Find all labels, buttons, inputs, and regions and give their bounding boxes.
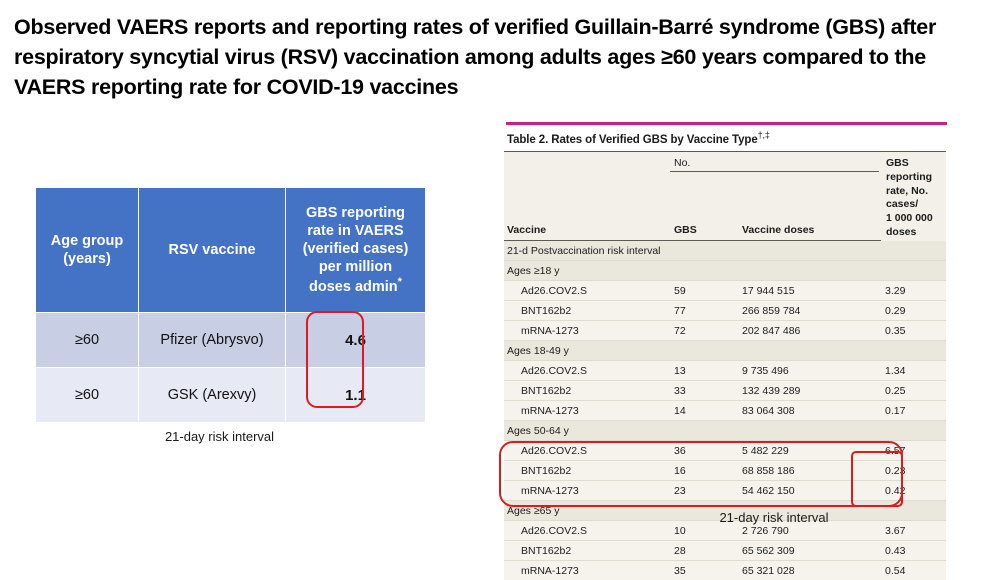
cell-section-label: 21-d Postvaccination risk interval (504, 241, 670, 261)
cell-gbs-count (670, 421, 738, 441)
cell-vaccine: Pfizer (Abrysvo) (139, 313, 286, 368)
right-header-rate-line2: rate, No. cases/ (886, 185, 928, 211)
cell-section-label: Ages 50-64 y (504, 421, 670, 441)
rsv-gbs-rate-table: Age group (years) RSV vaccine GBS report… (35, 187, 404, 423)
jama-table-title: Table 2. Rates of Verified GBS by Vaccin… (504, 125, 946, 151)
cell-gbs-rate: 0.42 (881, 481, 946, 501)
table-row: BNT162b22865 562 3090.43 (504, 541, 946, 561)
cell-vaccine: mRNA-1273 (504, 481, 670, 501)
cell-vaccine-doses: 17 944 515 (738, 281, 881, 301)
right-header-spacer (504, 151, 670, 199)
cell-vaccine: GSK (Arexvy) (139, 368, 286, 423)
right-header-row-bottom: Vaccine GBS Vaccine doses (504, 200, 946, 241)
cell-vaccine-doses: 65 321 028 (738, 561, 881, 580)
cell-vaccine-doses: 54 462 150 (738, 481, 881, 501)
table-section-row: Ages ≥18 y (504, 261, 946, 281)
right-header-row-top: No. GBS reporting rate, No. cases/ 1 000… (504, 151, 946, 199)
left-header-gbs-rate: GBS reporting rate in VAERS (verified ca… (286, 188, 426, 313)
cell-vaccine-doses: 132 439 289 (738, 381, 881, 401)
page-title: Observed VAERS reports and reporting rat… (14, 12, 980, 102)
cell-gbs-rate: 0.54 (881, 561, 946, 580)
table-row: mRNA-127372202 847 4860.35 (504, 321, 946, 341)
left-table-body: ≥60 Pfizer (Abrysvo) 4.6 ≥60 GSK (Arexvy… (36, 313, 426, 423)
left-table: Age group (years) RSV vaccine GBS report… (35, 187, 426, 423)
cell-gbs-count: 33 (670, 381, 738, 401)
cell-vaccine: mRNA-1273 (504, 321, 670, 341)
left-header-age-group-line1: Age group (51, 233, 124, 249)
cell-gbs-rate: 3.29 (881, 281, 946, 301)
cell-gbs-rate: 6.57 (881, 441, 946, 461)
cell-vaccine: mRNA-1273 (504, 561, 670, 580)
left-header-rate-line1: GBS reporting (306, 205, 405, 221)
dagger-footnote-marker: †,‡ (758, 130, 770, 140)
cell-vaccine: BNT162b2 (504, 301, 670, 321)
left-header-age-group: Age group (years) (36, 188, 139, 313)
cell-gbs-rate (881, 241, 946, 261)
table-row: ≥60 Pfizer (Abrysvo) 4.6 (36, 313, 426, 368)
cell-gbs-rate: 0.17 (881, 401, 946, 421)
table-row: BNT162b233132 439 2890.25 (504, 381, 946, 401)
left-header-rate-line2: rate in VAERS (307, 223, 403, 239)
cell-gbs-count: 59 (670, 281, 738, 301)
table-row: Ad26.COV2.S5917 944 5153.29 (504, 281, 946, 301)
cell-vaccine: Ad26.COV2.S (504, 441, 670, 461)
cell-section-label: Ages 18-49 y (504, 341, 670, 361)
cell-gbs-rate: 0.29 (881, 301, 946, 321)
cell-vaccine-doses (738, 261, 881, 281)
cell-gbs-count: 14 (670, 401, 738, 421)
left-header-rate-line4: per million (319, 259, 392, 275)
table-row: mRNA-12732354 462 1500.42 (504, 481, 946, 501)
cell-gbs-rate (881, 261, 946, 281)
cell-gbs-rate: 0.25 (881, 381, 946, 401)
cell-gbs-rate: 4.6 (286, 313, 426, 368)
left-header-rsv-vaccine: RSV vaccine (139, 188, 286, 313)
right-header-rate-line3: 1 000 000 doses (886, 212, 933, 238)
cell-gbs-count: 23 (670, 481, 738, 501)
cell-gbs-count (670, 341, 738, 361)
cell-vaccine-doses (738, 341, 881, 361)
cell-gbs-count: 36 (670, 441, 738, 461)
right-table-head: No. GBS reporting rate, No. cases/ 1 000… (504, 151, 946, 241)
cell-vaccine: BNT162b2 (504, 461, 670, 481)
right-table-caption: 21-day risk interval (604, 510, 944, 525)
cell-gbs-rate (881, 421, 946, 441)
table-section-row: Ages 50-64 y (504, 421, 946, 441)
cell-gbs-count: 72 (670, 321, 738, 341)
cell-vaccine: BNT162b2 (504, 381, 670, 401)
cell-vaccine-doses (738, 421, 881, 441)
asterisk-footnote-marker: * (398, 276, 402, 288)
left-table-head: Age group (years) RSV vaccine GBS report… (36, 188, 426, 313)
cell-gbs-rate: 1.1 (286, 368, 426, 423)
cell-gbs-count: 35 (670, 561, 738, 580)
left-header-rate-line3: (verified cases) (303, 241, 409, 257)
right-header-gbs-rate: GBS reporting rate, No. cases/ 1 000 000… (881, 151, 946, 241)
cell-vaccine-doses: 202 847 486 (738, 321, 881, 341)
left-table-header-row: Age group (years) RSV vaccine GBS report… (36, 188, 426, 313)
cell-vaccine: Ad26.COV2.S (504, 281, 670, 301)
cell-age-group: ≥60 (36, 368, 139, 423)
cell-gbs-count (670, 261, 738, 281)
left-table-caption: 21-day risk interval (35, 429, 404, 444)
right-header-gbs: GBS (670, 200, 738, 241)
cell-vaccine: mRNA-1273 (504, 401, 670, 421)
cell-age-group: ≥60 (36, 313, 139, 368)
table-row: mRNA-12733565 321 0280.54 (504, 561, 946, 580)
cell-gbs-count (670, 241, 738, 261)
cell-vaccine-doses: 65 562 309 (738, 541, 881, 561)
cell-vaccine-doses: 5 482 229 (738, 441, 881, 461)
cell-vaccine-doses: 83 064 308 (738, 401, 881, 421)
table-row: BNT162b21668 858 1860.23 (504, 461, 946, 481)
right-header-no-group: No. (670, 151, 881, 199)
table-row: Ad26.COV2.S365 482 2296.57 (504, 441, 946, 461)
cell-vaccine-doses: 266 859 784 (738, 301, 881, 321)
right-header-vaccine-doses: Vaccine doses (738, 200, 881, 241)
cell-gbs-count: 13 (670, 361, 738, 381)
table-row: ≥60 GSK (Arexvy) 1.1 (36, 368, 426, 423)
cell-vaccine: BNT162b2 (504, 541, 670, 561)
cell-vaccine: Ad26.COV2.S (504, 361, 670, 381)
table-section-row: Ages 18-49 y (504, 341, 946, 361)
right-header-vaccine: Vaccine (504, 200, 670, 241)
cell-gbs-rate (881, 341, 946, 361)
table-row: BNT162b277266 859 7840.29 (504, 301, 946, 321)
cell-vaccine-doses: 68 858 186 (738, 461, 881, 481)
table-row: mRNA-12731483 064 3080.17 (504, 401, 946, 421)
right-table-body: 21-d Postvaccination risk intervalAges ≥… (504, 241, 946, 580)
cell-gbs-count: 16 (670, 461, 738, 481)
table-row: Ad26.COV2.S139 735 4961.34 (504, 361, 946, 381)
cell-gbs-rate: 0.35 (881, 321, 946, 341)
cell-vaccine-doses (738, 241, 881, 261)
left-header-rate-line5: doses admin (309, 279, 398, 295)
cell-vaccine-doses: 9 735 496 (738, 361, 881, 381)
cell-gbs-rate: 1.34 (881, 361, 946, 381)
jama-table-title-text: Table 2. Rates of Verified GBS by Vaccin… (507, 134, 758, 146)
jama-table2-figure: Table 2. Rates of Verified GBS by Vaccin… (504, 120, 946, 580)
left-header-age-group-line2: (years) (63, 251, 111, 267)
right-header-no-label: No. (670, 157, 879, 172)
cell-gbs-count: 28 (670, 541, 738, 561)
cell-section-label: Ages ≥18 y (504, 261, 670, 281)
cell-gbs-rate: 0.43 (881, 541, 946, 561)
right-header-rate-line1: GBS reporting (886, 157, 932, 183)
cell-gbs-rate: 0.23 (881, 461, 946, 481)
table-section-row: 21-d Postvaccination risk interval (504, 241, 946, 261)
cell-gbs-count: 77 (670, 301, 738, 321)
